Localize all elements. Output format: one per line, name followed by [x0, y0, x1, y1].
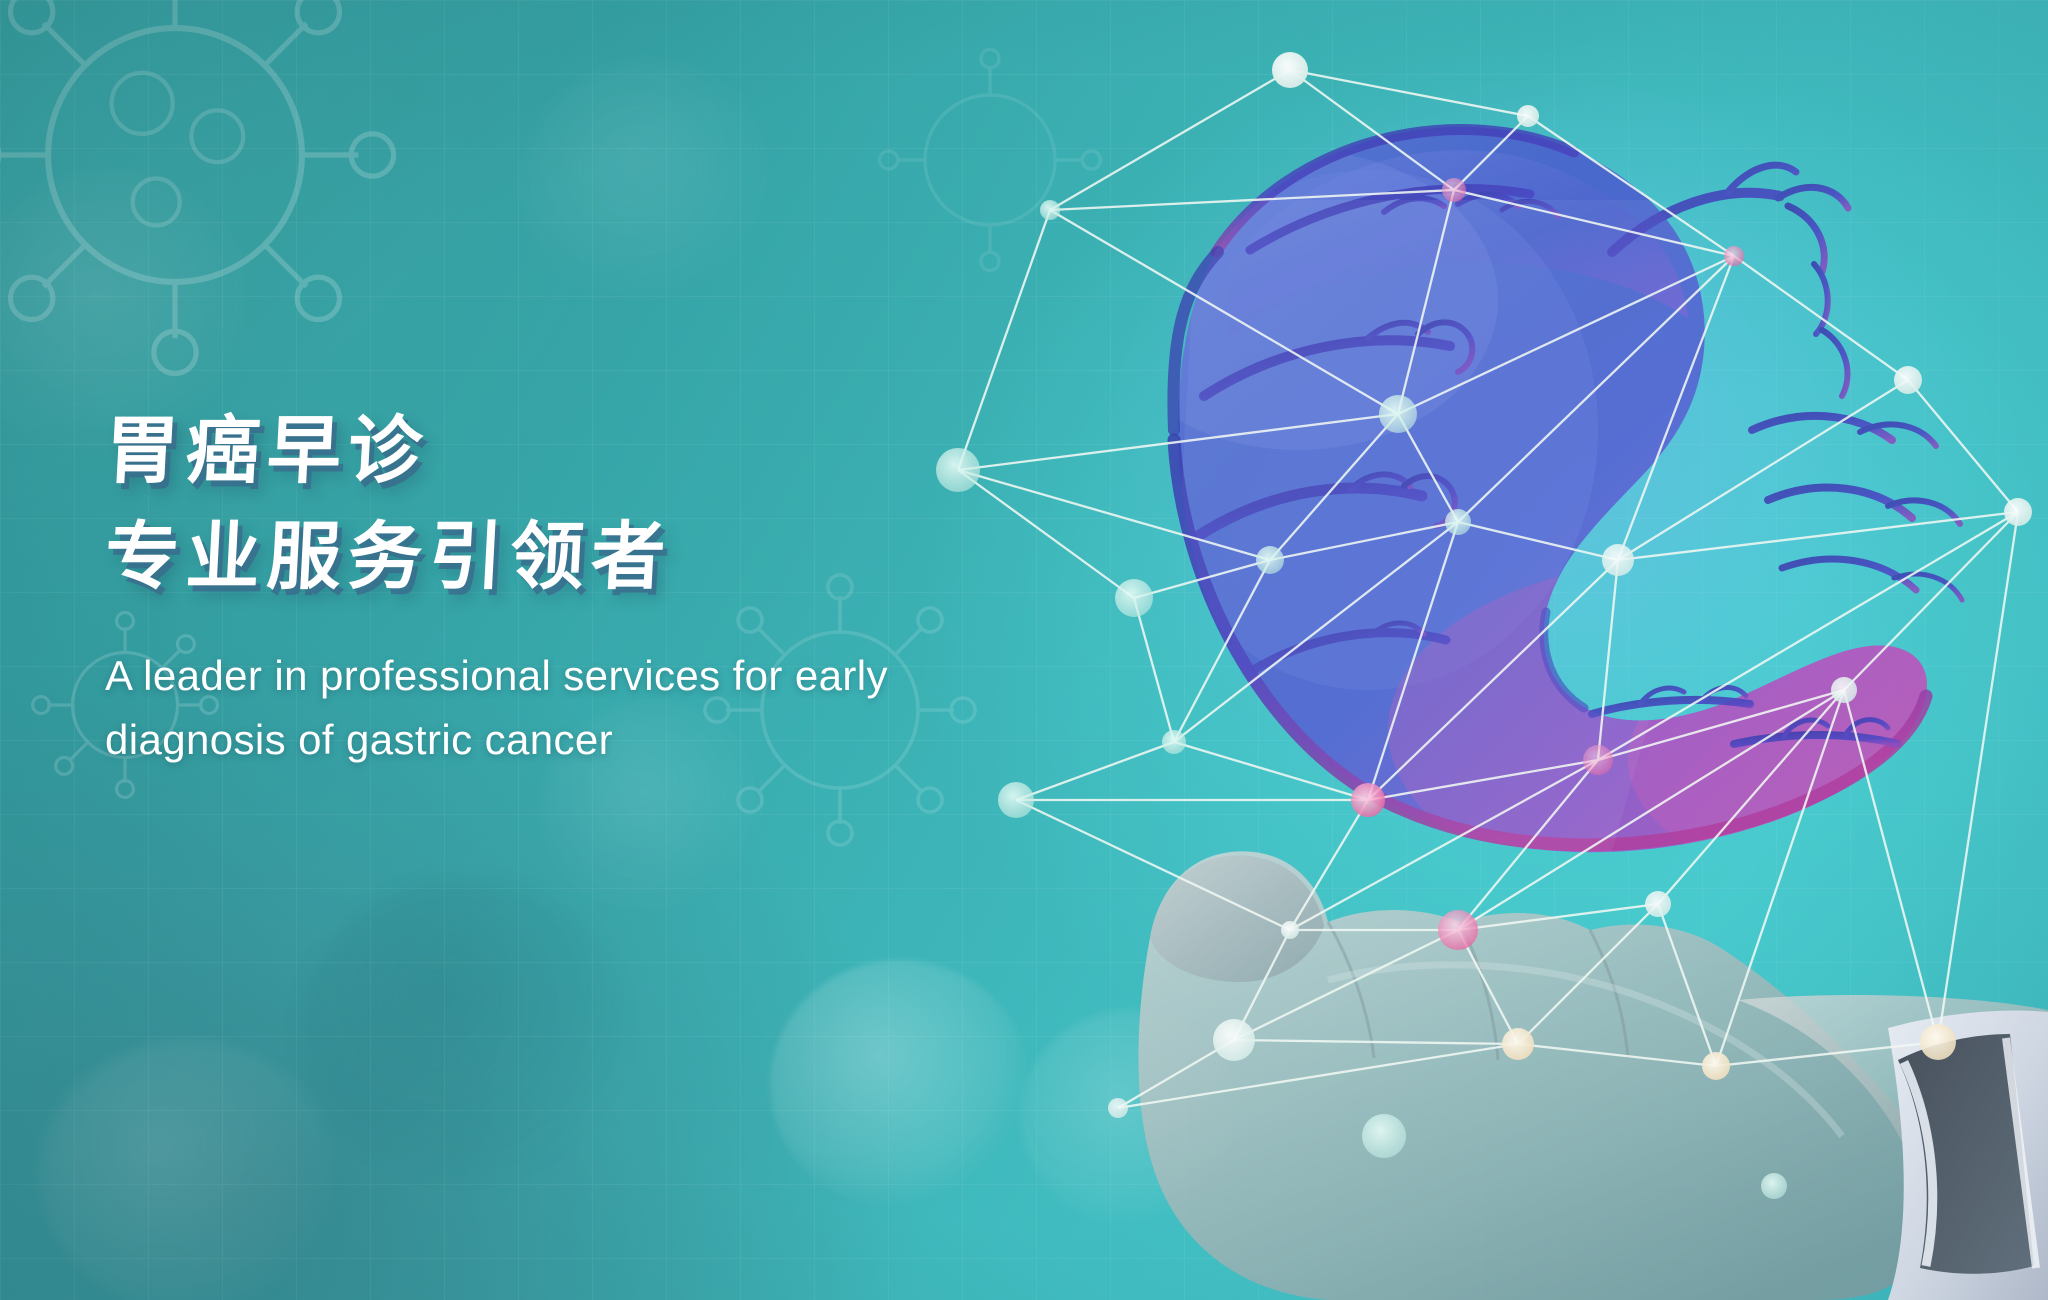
- subtitle-block: A leader in professional services for ea…: [105, 644, 1005, 772]
- headline-block: 胃癌早诊 专业服务引领者 A leader in professional se…: [105, 402, 1005, 772]
- subtitle-english-line-1: A leader in professional services for ea…: [105, 644, 1005, 708]
- headline-chinese-line-1: 胃癌早诊: [102, 402, 1007, 500]
- open-hand-in-lab-coat-illustration: [1138, 851, 2048, 1300]
- headline-chinese-line-2: 专业服务引领者: [102, 508, 1007, 606]
- subtitle-english-line-2: diagnosis of gastric cancer: [105, 708, 1005, 772]
- promotional-banner: 胃癌早诊 专业服务引领者 A leader in professional se…: [0, 0, 2048, 1300]
- stomach-hologram-illustration: [898, 0, 2048, 1300]
